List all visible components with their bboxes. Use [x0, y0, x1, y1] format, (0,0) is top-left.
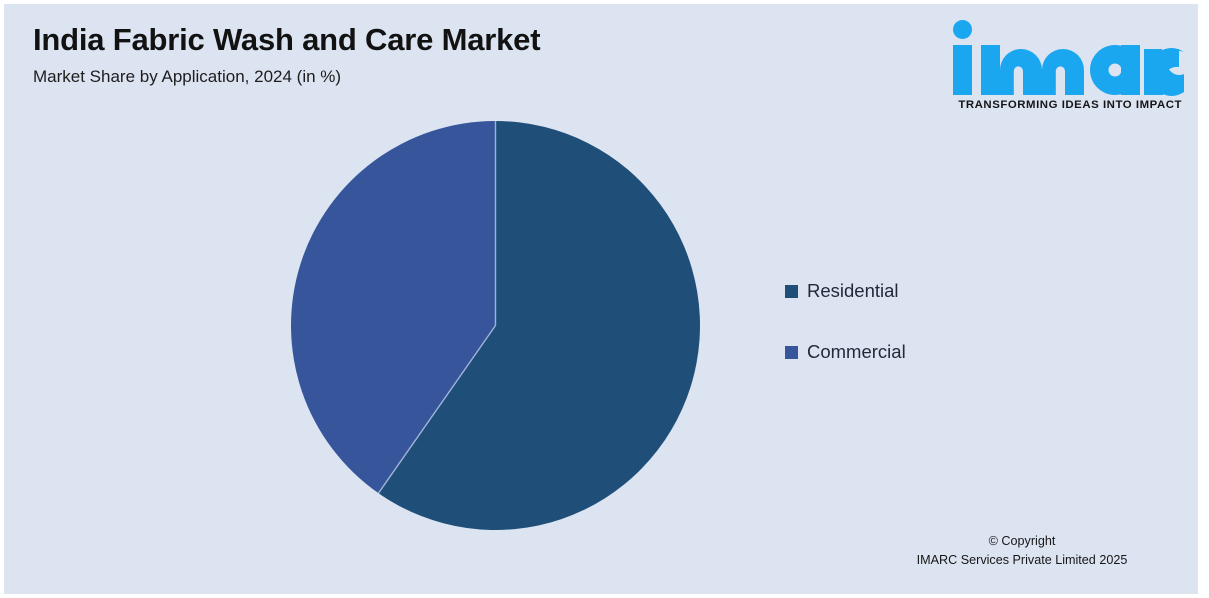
legend-label-commercial: Commercial: [807, 341, 906, 363]
legend-swatch-commercial: [785, 346, 798, 359]
chart-canvas: India Fabric Wash and Care Market Market…: [4, 4, 1198, 594]
title-block: India Fabric Wash and Care Market Market…: [33, 21, 733, 88]
company-line: IMARC Services Private Limited 2025: [862, 551, 1182, 570]
footer: © Copyright IMARC Services Private Limit…: [862, 532, 1182, 570]
page-subtitle: Market Share by Application, 2024 (in %): [33, 66, 733, 88]
chart-page: India Fabric Wash and Care Market Market…: [0, 0, 1209, 598]
legend-label-residential: Residential: [807, 280, 899, 302]
pie-chart-svg: [287, 117, 704, 534]
legend-item-residential[interactable]: Residential: [785, 276, 1005, 306]
copyright-line: © Copyright: [862, 532, 1182, 551]
pie-chart: [287, 117, 704, 534]
legend-item-commercial[interactable]: Commercial: [785, 337, 1005, 367]
imarc-wordmark-icon: [948, 18, 1184, 98]
imarc-logo: TRANSFORMING IDEAS INTO IMPACT: [948, 18, 1184, 111]
page-title: India Fabric Wash and Care Market: [33, 21, 733, 59]
logo-tagline: TRANSFORMING IDEAS INTO IMPACT: [948, 99, 1184, 111]
legend-swatch-residential: [785, 285, 798, 298]
chart-legend: Residential Commercial: [785, 276, 1005, 398]
